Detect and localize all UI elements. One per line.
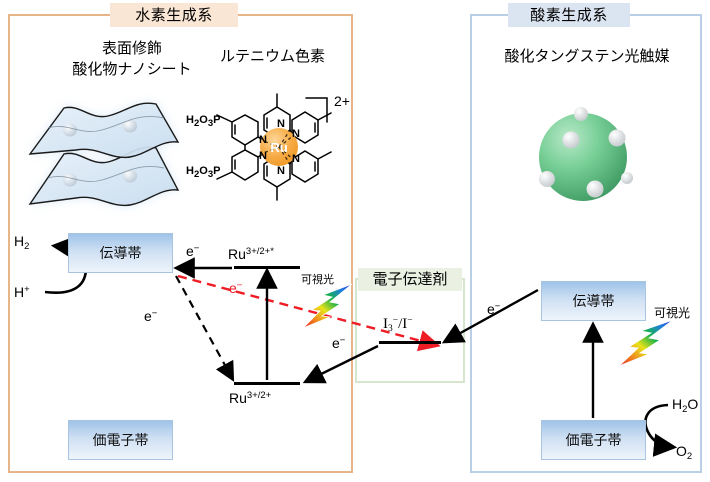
hydrogen-product-label: H2: [14, 233, 29, 255]
nanosheet-caption-line1: 表面修飾: [102, 40, 162, 57]
visible-light-bolt-right-icon: [615, 318, 677, 368]
water-label: H2O: [672, 396, 698, 418]
proton-label: H+: [14, 281, 30, 301]
electron-label-recombination: e−: [144, 308, 157, 324]
ground-state-superscript: 3+/2+: [247, 390, 271, 401]
diagram-canvas: Ru N N N N N N 2+ H2O3P H2O3P: [0, 0, 710, 482]
visible-light-bolt-left-icon: [300, 282, 355, 330]
proton-symbol: H: [14, 284, 24, 300]
visible-light-label-right: 可視光: [654, 305, 690, 322]
hydrogen-panel-title: 水素生成系: [110, 3, 238, 27]
electron-label-injection: e−: [186, 243, 199, 259]
electron-label-mediator-reduction: e−: [229, 280, 242, 296]
conduction-band-left: 伝導帯: [68, 233, 173, 273]
proton-superscript: +: [24, 284, 30, 295]
redox-couple-label: I3−/I−: [383, 313, 413, 338]
iodide-tail: /I: [398, 316, 407, 332]
ground-state-level: [234, 382, 300, 385]
excited-state-label: Ru3+/2+*: [228, 243, 274, 263]
conduction-band-right: 伝導帯: [541, 281, 646, 321]
excited-state-superscript: 3+/2+*: [246, 246, 274, 257]
h2-subscript: 2: [24, 241, 29, 252]
nanosheet-caption: 表面修飾 酸化物ナノシート: [52, 38, 212, 80]
h2-symbol: H: [14, 233, 24, 249]
dye-regeneration-arrow: [307, 346, 378, 381]
oxygen-panel-title: 酸素生成系: [508, 3, 630, 27]
excited-state-symbol: Ru: [228, 246, 246, 262]
valence-band-left: 価電子帯: [68, 420, 173, 460]
ground-state-label: Ru3+/2+: [229, 387, 271, 407]
nanosheet-caption-line2: 酸化物ナノシート: [72, 61, 191, 78]
oxygen-label: O2: [676, 443, 692, 465]
iodide-tail-charge: −: [407, 316, 412, 326]
photocatalyst-caption: 酸化タングステン光触媒: [482, 48, 692, 65]
ground-state-symbol: Ru: [229, 390, 247, 406]
electron-label-regeneration: e−: [332, 335, 345, 351]
dye-caption: ルテニウム色素: [205, 48, 340, 65]
recombination-arrow: [176, 276, 232, 378]
electron-label-wo3-transfer: e−: [487, 301, 500, 317]
visible-light-label-left: 可視光: [301, 272, 334, 289]
valence-band-right: 価電子帯: [541, 420, 646, 460]
water-oxidation-arrow: [645, 405, 672, 447]
excited-state-level: [234, 266, 300, 269]
mediator-level: [379, 341, 441, 344]
